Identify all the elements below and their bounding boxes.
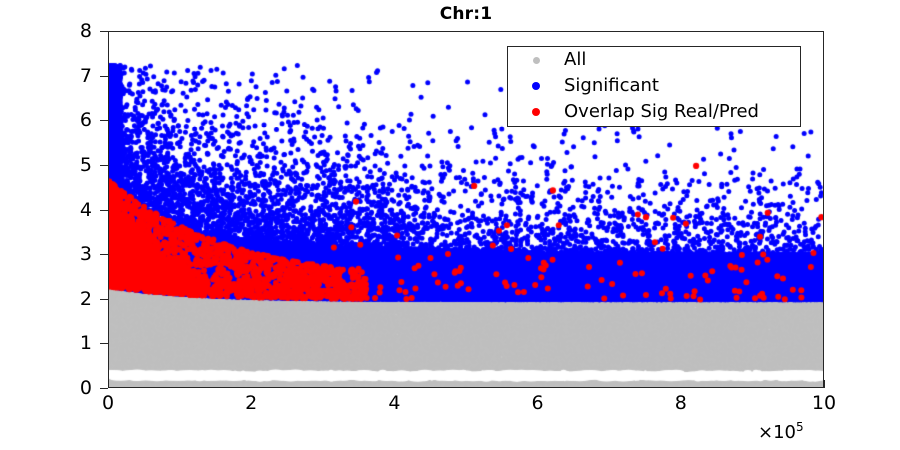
y-axis-tick-mark	[100, 165, 108, 166]
y-axis-tick-label: 2	[0, 288, 92, 310]
y-axis-tick-mark	[100, 254, 108, 255]
x-axis-tick-label: 8	[675, 392, 687, 414]
legend-marker-cell	[508, 82, 564, 90]
legend-marker-dot-icon	[533, 57, 540, 64]
x-axis-tick-label: 4	[388, 392, 400, 414]
y-axis-tick-label: 6	[0, 109, 92, 131]
page-title: Chr:1	[108, 4, 824, 24]
figure-canvas: Chr:1 012345678 0246810 ×105 AllSignific…	[0, 0, 900, 450]
y-axis-tick-mark	[100, 120, 108, 121]
y-axis-tick-label: 7	[0, 65, 92, 87]
legend-item-0[interactable]: All	[508, 47, 800, 73]
legend-item-label: Overlap Sig Real/Pred	[564, 103, 759, 121]
legend-marker-cell	[508, 108, 564, 116]
legend-item-label: All	[564, 51, 586, 69]
y-axis-tick-label: 4	[0, 199, 92, 221]
y-axis-tick-mark	[100, 210, 108, 211]
y-axis-tick-mark	[100, 343, 108, 344]
y-axis-tick-mark	[100, 388, 108, 389]
legend-marker-dot-icon	[532, 108, 540, 116]
x-multiplier-base: ×10	[758, 422, 796, 443]
legend-item-label: Significant	[564, 77, 659, 95]
x-multiplier-exponent: 5	[796, 420, 804, 434]
chart-legend[interactable]: AllSignificantOverlap Sig Real/Pred	[507, 46, 801, 127]
y-axis-tick-label: 8	[0, 20, 92, 42]
legend-item-2[interactable]: Overlap Sig Real/Pred	[508, 99, 800, 125]
y-axis-tick-label: 1	[0, 332, 92, 354]
y-axis-tick-label: 5	[0, 154, 92, 176]
y-axis-tick-mark	[100, 299, 108, 300]
y-axis-tick-mark	[100, 76, 108, 77]
legend-marker-dot-icon	[532, 82, 540, 90]
x-axis-tick-label: 0	[102, 392, 114, 414]
y-axis-tick-label: 0	[0, 377, 92, 399]
legend-item-1[interactable]: Significant	[508, 73, 800, 99]
y-axis-tick-label: 3	[0, 243, 92, 265]
x-axis-tick-mark	[824, 380, 825, 388]
x-axis-tick-label: 6	[532, 392, 544, 414]
x-axis-multiplier: ×105	[758, 420, 804, 443]
legend-marker-cell	[508, 57, 564, 64]
y-axis-tick-mark	[100, 31, 108, 32]
x-axis-tick-label: 10	[812, 392, 836, 414]
x-axis-tick-label: 2	[245, 392, 257, 414]
